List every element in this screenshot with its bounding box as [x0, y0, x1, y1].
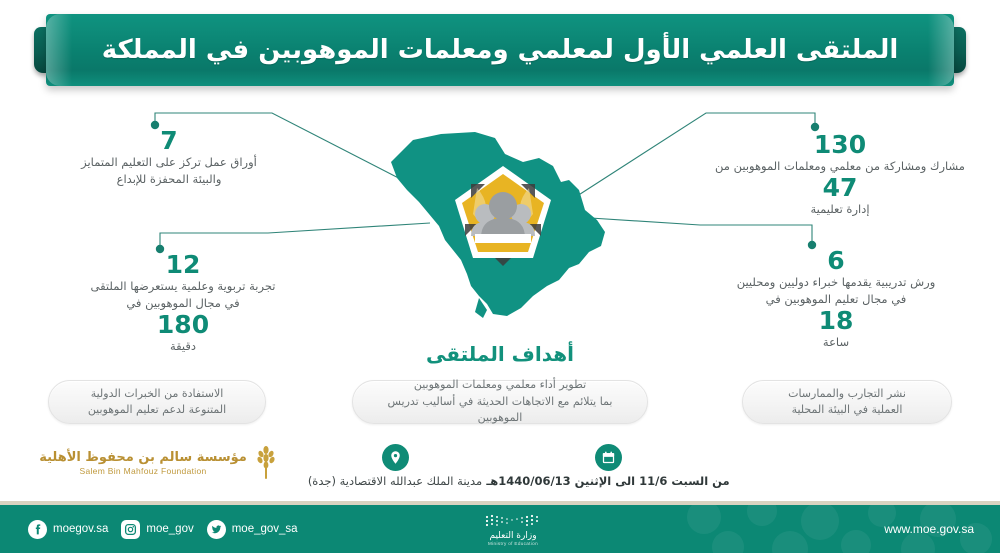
foundation-logo: مؤسسة سالم بن محفوظ الأهلية Salem Bin Ma…: [18, 446, 298, 480]
infographic-page: الملتقى العلمي الأول لمعلمي ومعلمات المو…: [0, 0, 1000, 553]
stat-papers: 7 أوراق عمل تركز على التعليم المتمايز وا…: [58, 128, 280, 188]
stat-participants-text2: إدارة تعليمية: [706, 201, 974, 218]
ministry-name-ar: وزارة التعليم: [489, 531, 536, 541]
stat-participants-number: 130: [706, 132, 974, 158]
twitter-handle[interactable]: moe_gov_sa: [232, 523, 298, 535]
footer-bar: moegov.sa moe_gov moe_go: [0, 505, 1000, 553]
social-links[interactable]: moegov.sa moe_gov moe_go: [28, 505, 298, 553]
goal-spread-practices: نشر التجارب والممارسات العملية في البيئة…: [742, 380, 952, 424]
stat-workshops-number2: 18: [712, 308, 960, 334]
foundation-name-en: Salem Bin Mahfouz Foundation: [39, 466, 247, 476]
stat-workshops: 6 ورش تدريبية يقدمها خبراء دوليين ومحليي…: [712, 248, 960, 351]
goal-international-expertise: الاستفادة من الخبرات الدولية المتنوعة لد…: [48, 380, 266, 424]
moe-dots-logo: [483, 514, 543, 530]
instagram-handle[interactable]: moe_gov: [146, 523, 193, 535]
ministry-name-en: Ministry of Education: [488, 541, 538, 546]
stat-experiences-text: تجربة تربوية وعلمية يستعرضها الملتقى في …: [72, 278, 294, 311]
info-strip: مؤسسة سالم بن محفوظ الأهلية Salem Bin Ma…: [0, 444, 1000, 498]
stat-experiences-number2: 180: [72, 312, 294, 338]
location-pin-icon: [382, 444, 409, 471]
stat-papers-number: 7: [58, 128, 280, 154]
social-facebook[interactable]: moegov.sa: [28, 520, 108, 539]
facebook-glyph: [31, 523, 44, 536]
page-title: الملتقى العلمي الأول لمعلمي ومعلمات المو…: [102, 36, 899, 65]
venue-text: مدينة الملك عبدالله الاقتصادية (جدة): [308, 474, 482, 488]
instagram-glyph: [124, 523, 137, 536]
date-text: من السبت 11/6 الى الإثنين 1440/06/13هـ: [486, 474, 729, 488]
calendar-glyph: [601, 450, 616, 465]
foundation-name-ar: مؤسسة سالم بن محفوظ الأهلية: [39, 450, 247, 466]
stat-papers-text: أوراق عمل تركز على التعليم المتمايز والب…: [58, 154, 280, 187]
social-instagram[interactable]: moe_gov: [121, 520, 193, 539]
stat-participants: 130 مشارك ومشاركة من معلمي ومعلمات الموه…: [706, 132, 974, 218]
people-pentagon-badge: [451, 162, 555, 266]
facebook-icon[interactable]: [28, 520, 47, 539]
venue-block: مدينة الملك عبدالله الاقتصادية (جدة): [270, 444, 520, 488]
ministry-logo: وزارة التعليم Ministry of Education: [468, 511, 558, 549]
goals-title: أهداف الملتقى: [0, 342, 1000, 366]
date-block: من السبت 11/6 الى الإثنين 1440/06/13هـ: [492, 444, 724, 488]
stat-participants-number2: 47: [706, 175, 974, 201]
saudi-arabia-map: [383, 128, 619, 320]
facebook-handle[interactable]: moegov.sa: [53, 523, 108, 535]
twitter-glyph: [210, 523, 223, 536]
stat-experiences: 12 تجربة تربوية وعلمية يستعرضها الملتقى …: [72, 252, 294, 355]
ribbon-body: الملتقى العلمي الأول لمعلمي ومعلمات المو…: [46, 14, 954, 86]
social-twitter[interactable]: moe_gov_sa: [207, 520, 298, 539]
calendar-icon: [595, 444, 622, 471]
stat-workshops-text: ورش تدريبية يقدمها خبراء دوليين ومحليين …: [712, 274, 960, 307]
instagram-icon[interactable]: [121, 520, 140, 539]
stat-experiences-number: 12: [72, 252, 294, 278]
pin-glyph: [388, 450, 403, 465]
website-url[interactable]: www.moe.gov.sa: [884, 505, 974, 553]
twitter-icon[interactable]: [207, 520, 226, 539]
stat-workshops-number: 6: [712, 248, 960, 274]
header-banner: الملتقى العلمي الأول لمعلمي ومعلمات المو…: [0, 14, 1000, 86]
goal-develop-performance: تطوير أداء معلمي ومعلمات الموهوبين بما ي…: [352, 380, 648, 424]
